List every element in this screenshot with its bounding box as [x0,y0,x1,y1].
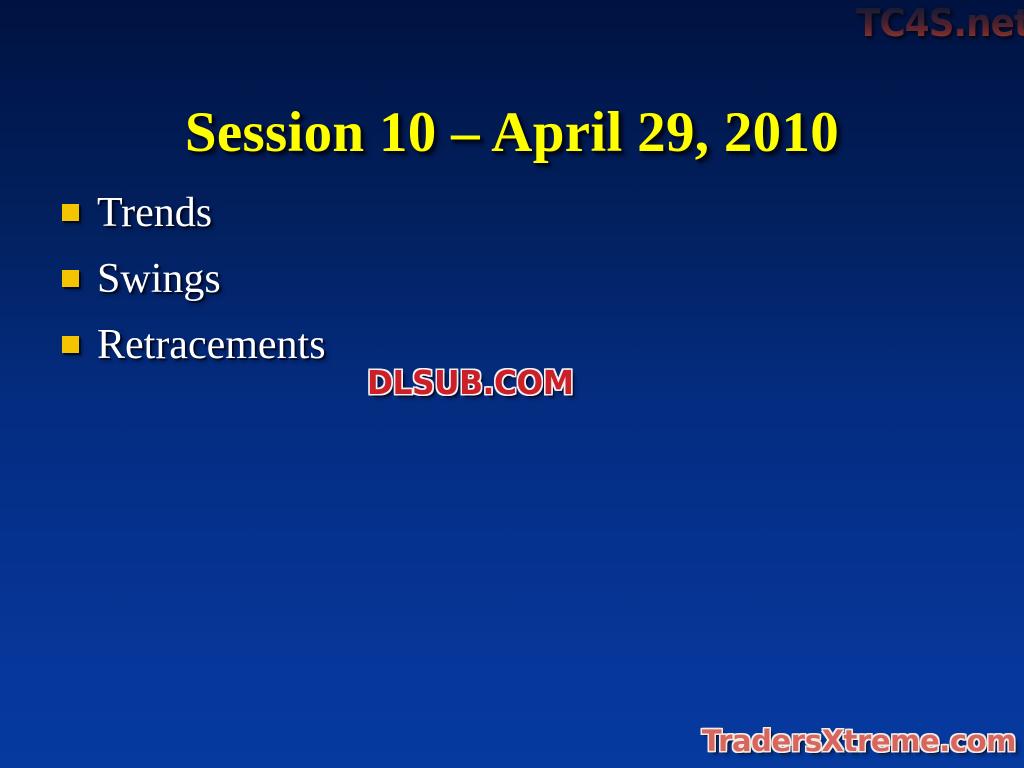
square-bullet-icon [62,204,79,221]
bullet-item-swings: Swings [60,254,700,304]
square-bullet-icon [62,336,79,353]
bullet-item-label: Trends [97,190,212,236]
watermark-dlsub: DLSUB.COM [367,364,573,402]
bullet-list: Trends Swings Retracements [60,188,700,386]
bullet-item-trends: Trends [60,188,700,238]
slide-title: Session 10 – April 29, 2010 [0,102,1024,164]
watermark-tc4s: TC4S.net [856,2,1024,44]
watermark-tradersxtreme: TradersXtreme.com [702,724,1016,758]
presentation-slide: Session 10 – April 29, 2010 Trends Swing… [0,0,1024,768]
bullet-item-label: Swings [97,256,221,302]
square-bullet-icon [62,270,79,287]
bullet-item-label: Retracements [97,322,326,368]
